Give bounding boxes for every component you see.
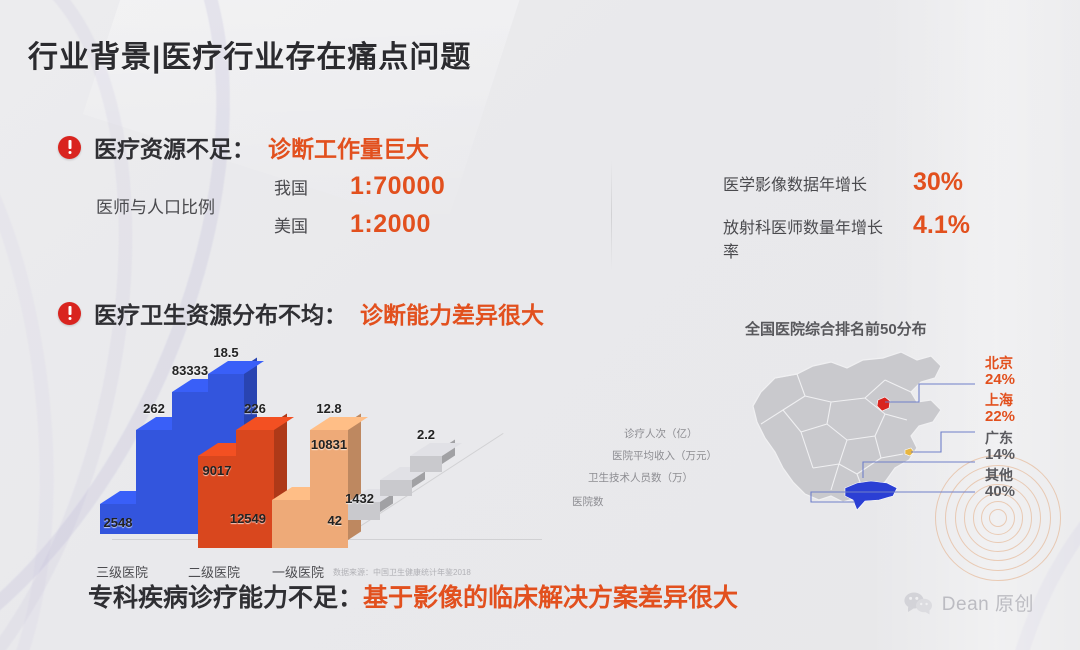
ratio-value-china: 1:70000	[350, 172, 445, 201]
ratio-value-usa: 1:2000	[350, 210, 431, 239]
china-hospital-distribution-map: 全国医院综合排名前50分布 北京 24% 上海 22% 广东 14%	[735, 318, 1065, 553]
page-title: 行业背景|医疗行业存在痛点问题	[28, 32, 471, 76]
bar-value: 262	[143, 401, 165, 416]
growth-stats-block: 医学影像数据年增长 30% 放射科医师数量年增长率 4.1%	[723, 168, 970, 262]
map-base-shape	[753, 352, 941, 502]
bar-value: 9017	[203, 463, 232, 478]
section-2-heading-accent: 诊断能力差异很大	[360, 296, 544, 330]
stat-row: 放射科医师数量年增长率 4.1%	[723, 211, 970, 262]
stat-value-imaging-growth: 30%	[913, 168, 963, 197]
legend-pct-beijing: 24%	[985, 372, 1047, 389]
hospital-resource-bar-chart: 2548 262 83333 18.5 9017 226 12549 10831…	[90, 338, 570, 548]
table-row: 我国 1:70000	[274, 172, 445, 201]
legend-pct-other: 40%	[985, 484, 1047, 501]
stat-label-radiologist-growth: 放射科医师数量年增长率	[723, 214, 895, 262]
watermark-text: Dean 原创	[942, 589, 1034, 616]
series-label-hospital-count: 医院数	[572, 494, 604, 509]
legend-name-guangdong: 广东	[985, 431, 1047, 447]
section-1-heading-label: 医疗资源不足：	[94, 130, 255, 164]
bar-value: 18.5	[213, 345, 238, 360]
bottom-statement-accent: 基于影像的临床解决方案差异很大	[363, 578, 738, 614]
section-1-heading-accent: 诊断工作量巨大	[268, 130, 429, 164]
bar-3a-hospital-count: 2548	[100, 504, 136, 534]
legend-name-other: 其他	[985, 468, 1047, 484]
legend-pct-guangdong: 14%	[985, 447, 1047, 464]
map-title: 全国医院综合排名前50分布	[745, 318, 927, 339]
chart-source-note: 数据来源：中国卫生健康统计年鉴2018	[333, 567, 471, 578]
bar-1a-income: 10831 12.8	[310, 430, 348, 548]
bottom-statement-label: 专科疾病诊疗能力不足：	[88, 578, 363, 614]
table-row: 美国 1:2000	[274, 210, 445, 239]
vertical-divider	[611, 160, 612, 270]
series-label-visits: 诊疗人次（亿）	[624, 426, 698, 441]
bar-value: 2548	[104, 515, 133, 530]
legend-pct-shanghai: 22%	[985, 409, 1047, 426]
bar-3a-staff: 262	[136, 430, 172, 534]
guangdong-highlight	[845, 481, 897, 510]
map-legend: 北京 24% 上海 22% 广东 14% 其他 40%	[985, 356, 1047, 506]
legend-item-beijing: 北京 24%	[985, 356, 1047, 388]
warning-circle-icon	[58, 136, 81, 159]
bar-value: 83333	[172, 363, 208, 378]
stat-value-radiologist-growth: 4.1%	[913, 211, 970, 240]
section-2-heading-label: 医疗卫生资源分布不均：	[94, 296, 347, 330]
ratio-label: 医师与人口比例	[96, 193, 246, 218]
ratio-table: 我国 1:70000 美国 1:2000	[274, 172, 445, 239]
bar-value: 42	[328, 513, 342, 528]
series-label-staff: 卫生技术人员数（万）	[588, 470, 693, 485]
section-2-heading: 医疗卫生资源分布不均： 诊断能力差异很大	[58, 296, 544, 330]
bar-2a-hospital-count: 9017	[198, 456, 236, 548]
bar-value: 12549	[230, 511, 266, 526]
legend-name-shanghai: 上海	[985, 393, 1047, 409]
chart-series-labels: 诊疗人次（亿） 医院平均收入（万元） 卫生技术人员数（万） 医院数	[402, 420, 582, 530]
stat-label-imaging-growth: 医学影像数据年增长	[723, 171, 895, 195]
bar-value: 226	[244, 401, 266, 416]
watermark: Dean 原创	[903, 589, 1034, 616]
legend-item-shanghai: 上海 22%	[985, 393, 1047, 425]
bar-value: 12.8	[316, 401, 341, 416]
bar-value: 10831	[311, 437, 347, 452]
ratio-country-usa: 美国	[274, 212, 316, 237]
bottom-statement: 专科疾病诊疗能力不足： 基于影像的临床解决方案差异很大	[88, 578, 738, 614]
doctor-population-ratio-block: 医师与人口比例 我国 1:70000 美国 1:2000	[96, 172, 445, 239]
wechat-icon	[903, 591, 933, 615]
legend-name-beijing: 北京	[985, 356, 1047, 372]
bar-2a-staff: 226	[236, 430, 274, 548]
legend-item-guangdong: 广东 14%	[985, 431, 1047, 463]
stat-row: 医学影像数据年增长 30%	[723, 168, 970, 197]
series-label-income: 医院平均收入（万元）	[612, 448, 717, 463]
ratio-country-china: 我国	[274, 174, 316, 199]
warning-circle-icon	[58, 302, 81, 325]
china-map-svg	[735, 340, 975, 550]
bar-value: 1432	[345, 491, 374, 506]
legend-item-other: 其他 40%	[985, 468, 1047, 500]
bar-1a-hospital-count: 12549	[272, 500, 310, 548]
section-1-heading: 医疗资源不足： 诊断工作量巨大	[58, 130, 429, 164]
